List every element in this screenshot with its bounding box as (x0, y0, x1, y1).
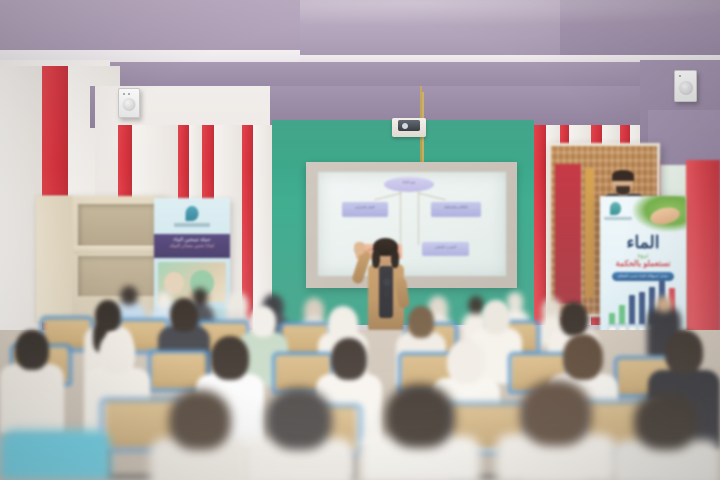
chart-bar (639, 292, 645, 324)
banner-right-logo-icon (610, 202, 621, 215)
audience-member-foreground (244, 388, 354, 480)
banner-left-subline: لماذا نحمي مصادر المياه (154, 243, 230, 249)
portrait-drape-red (555, 164, 581, 304)
person-head (560, 302, 588, 336)
person-head (563, 334, 603, 380)
person-head (99, 332, 135, 374)
wall-speaker-left (118, 88, 140, 118)
banner-right-pill: معدل استهلاك الماء حسب القطاع (612, 272, 674, 281)
wall-stripe-red (534, 125, 546, 325)
banner-left-photo-figure (164, 272, 184, 294)
person-head (266, 388, 332, 450)
slide-box-1: التبخر الحراري (342, 202, 388, 217)
slide-connector (374, 193, 401, 201)
slide-box-4-label: التسرب الباطني (422, 242, 469, 250)
banner-left-org-text (174, 223, 210, 227)
speaker-cone-icon (679, 81, 693, 95)
person-head (665, 330, 703, 374)
presenter-hair-side (372, 250, 380, 268)
banner-left-headline: حملة تسخين الماء (154, 234, 230, 243)
speaker-led-icon (123, 93, 125, 95)
slide-connector (418, 191, 419, 245)
portrait-figure-beard (616, 186, 630, 195)
banner-right-org-text (604, 217, 632, 220)
presenter-hair-side (391, 250, 399, 268)
slide-box-2-label: التكاثف والتساقط (431, 202, 481, 210)
audience-member-foreground (0, 430, 110, 480)
audience-member (0, 330, 64, 426)
banner-right-pill-label: معدل استهلاك الماء حسب القطاع (612, 272, 674, 278)
projector-lens-icon (402, 123, 408, 129)
person-head (169, 390, 231, 450)
slide-box-4: التسرب الباطني (422, 242, 469, 256)
slide-root-label: دورة الماء (384, 177, 434, 185)
ceiling-soffit-left (0, 0, 300, 56)
person-head (408, 306, 434, 338)
slide-connector (400, 191, 401, 245)
person-head (250, 306, 276, 337)
wall-speaker-right (674, 70, 697, 102)
slide-connector (418, 193, 445, 201)
chart-bar (629, 295, 635, 324)
shelf-compartment-top (78, 204, 158, 246)
portrait-drape-gold (585, 168, 594, 298)
microphone-head-icon (383, 278, 391, 286)
person-head (331, 338, 367, 380)
person-head (385, 384, 455, 448)
audience-member-foreground (612, 392, 720, 480)
chart-bar (609, 313, 615, 324)
banner-left-logo-icon (186, 206, 199, 221)
banner-left-header: حملة تسخين الماء لماذا نحمي مصادر المياه (154, 234, 230, 258)
person-torso (0, 364, 64, 434)
person-head (634, 392, 698, 450)
banner-right-subtitle-green: ثروة (600, 252, 686, 259)
slide-box-2: التكاثف والتساقط (431, 202, 481, 217)
person-head (211, 336, 249, 380)
conference-hall-photo: دورة الماء التبخر الحراري التكاثف والتسا… (0, 0, 720, 480)
slide-root-node: دورة الماء (384, 177, 434, 192)
speaker-led-icon (128, 93, 130, 95)
person-head (520, 380, 592, 446)
shelf-side-panel (36, 196, 72, 322)
person-head (170, 298, 198, 332)
person-hijab (328, 306, 358, 340)
shelf-divider (74, 246, 162, 254)
banner-right-title: الماء (600, 234, 686, 251)
banner-right-subtitle-red: نستعملو بالحكمة (600, 259, 686, 268)
person-head (447, 340, 485, 384)
person-head (482, 300, 510, 334)
audience-member-foreground (496, 380, 616, 480)
person-torso (0, 430, 110, 480)
slide-box-1-label: التبخر الحراري (342, 202, 388, 210)
speaker-cone-icon (123, 98, 136, 111)
presenter-raised-hand (354, 242, 365, 255)
speaker-led-icon (679, 75, 681, 77)
chart-bar (619, 305, 625, 324)
portrait-figure-hair (612, 170, 634, 181)
audience-member-foreground (150, 390, 250, 480)
person-head (15, 330, 49, 370)
person-head (656, 296, 672, 312)
audience-member-foreground (360, 384, 480, 480)
